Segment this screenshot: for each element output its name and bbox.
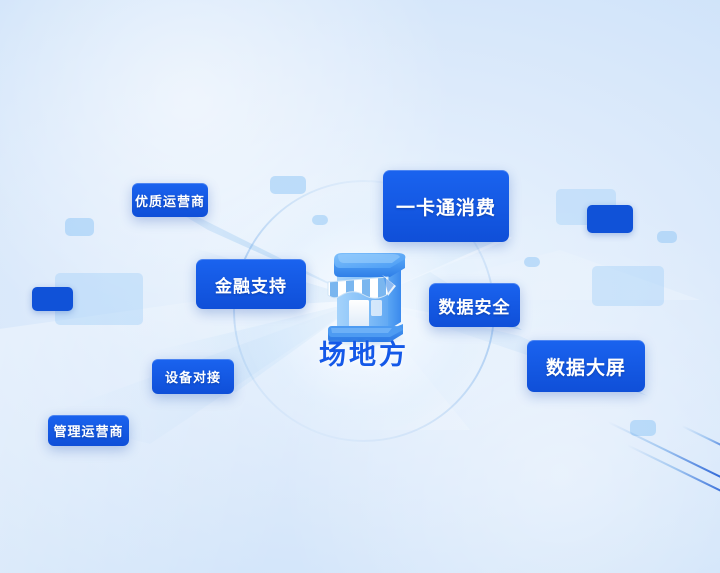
tag-management-operator[interactable]: 管理运营商 xyxy=(48,415,129,446)
deco-rect-1 xyxy=(65,218,94,236)
deco-rect-8 xyxy=(657,231,677,243)
infographic-canvas: 场地方 优质运营商 金融支持 设备对接 管理运营商 一卡通消费 数据安全 数据大… xyxy=(0,0,720,573)
speed-line-2 xyxy=(627,444,720,498)
tag-device-integration[interactable]: 设备对接 xyxy=(152,359,234,394)
tag-data-dashboard[interactable]: 数据大屏 xyxy=(527,340,645,392)
speed-line-1 xyxy=(608,421,720,482)
deco-rect-10 xyxy=(592,266,664,306)
deco-rect-11 xyxy=(630,420,656,436)
speed-line-3 xyxy=(682,425,720,454)
deco-rect-7 xyxy=(587,205,633,233)
deco-rect-5 xyxy=(312,215,328,225)
deco-rect-3 xyxy=(32,287,73,311)
deco-rect-2 xyxy=(55,273,143,325)
tag-financial-support[interactable]: 金融支持 xyxy=(196,259,306,309)
deco-rect-6 xyxy=(556,189,616,225)
storefront-icon xyxy=(304,238,424,348)
deco-rect-9 xyxy=(524,257,540,267)
tag-quality-operator[interactable]: 优质运营商 xyxy=(132,183,208,217)
deco-rect-4 xyxy=(270,176,306,194)
tag-all-in-one-card[interactable]: 一卡通消费 xyxy=(383,170,509,242)
tag-data-security[interactable]: 数据安全 xyxy=(429,283,520,327)
center-label: 场地方 xyxy=(284,333,444,372)
